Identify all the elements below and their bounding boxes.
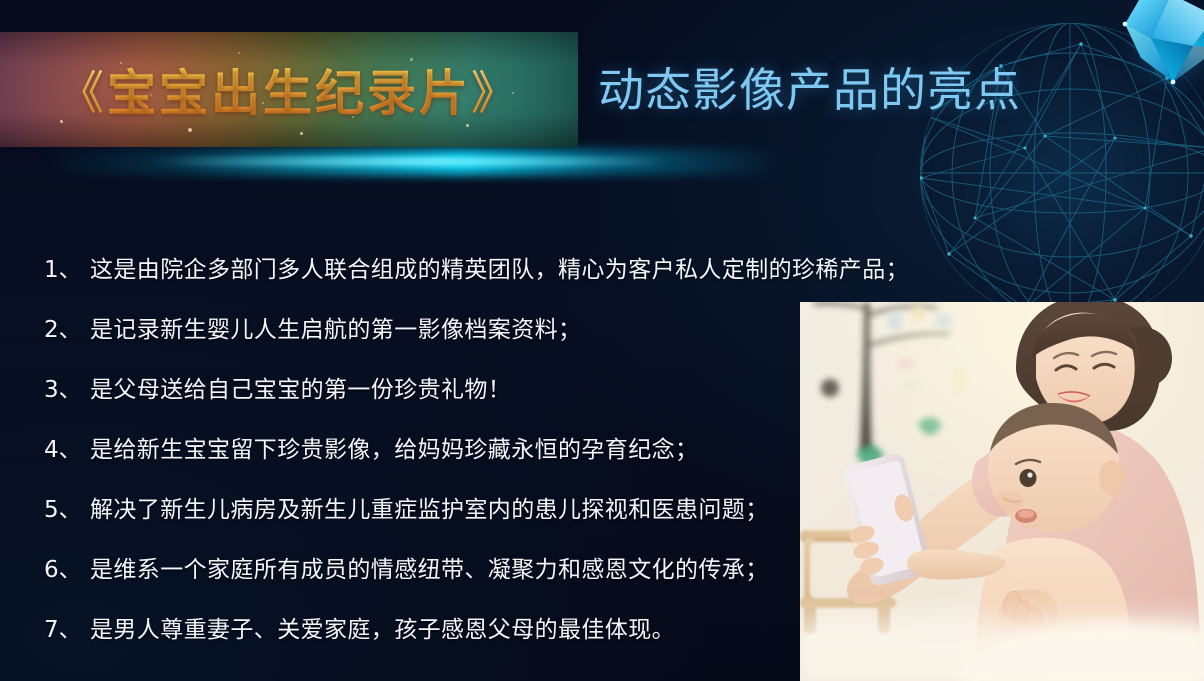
slide-headline: 动态影像产品的亮点 <box>598 54 1021 120</box>
banner-title-text: 宝宝出生纪录片 <box>107 54 471 125</box>
light-streak-core <box>150 157 670 166</box>
bullet-text: 这是由院企多部门多人联合组成的精英团队，精心为客户私人定制的珍稀产品； <box>90 250 909 284</box>
bullet-number: 3、 <box>44 370 90 404</box>
title-banner: 《 宝宝出生纪录片 》 <box>0 32 578 147</box>
bullet-text: 是维系一个家庭所有成员的情感纽带、凝聚力和感恩文化的传承； <box>90 550 769 584</box>
bullet-number: 5、 <box>44 490 90 524</box>
bullet-number: 6、 <box>44 550 90 584</box>
bullet-text: 是记录新生婴儿人生启航的第一影像档案资料； <box>90 310 581 344</box>
list-item: 1、 这是由院企多部门多人联合组成的精英团队，精心为客户私人定制的珍稀产品； <box>44 250 1004 310</box>
crystal-diamond-icon <box>1119 0 1204 96</box>
mother-baby-photo <box>800 302 1204 681</box>
bracket-open: 《 <box>58 57 107 123</box>
bullet-number: 2、 <box>44 310 90 344</box>
bullet-number: 4、 <box>44 430 90 464</box>
presentation-slide: 《 宝宝出生纪录片 》 动态影像产品的亮点 1、 这是由院企多部门多人联合组成的… <box>0 0 1204 681</box>
bullet-text: 是给新生宝宝留下珍贵影像，给妈妈珍藏永恒的孕育纪念； <box>90 430 698 464</box>
banner-title: 《 宝宝出生纪录片 》 <box>0 32 578 147</box>
bullet-text: 是男人尊重妻子、关爱家庭，孩子感恩父母的最佳体现。 <box>90 610 675 644</box>
bullet-number: 7、 <box>44 610 90 644</box>
bullet-text: 是父母送给自己宝宝的第一份珍贵礼物！ <box>90 370 511 404</box>
bullet-text: 解决了新生儿病房及新生儿重症监护室内的患儿探视和医患问题； <box>90 490 769 524</box>
bullet-number: 1、 <box>44 250 90 284</box>
bracket-close: 》 <box>471 57 520 123</box>
